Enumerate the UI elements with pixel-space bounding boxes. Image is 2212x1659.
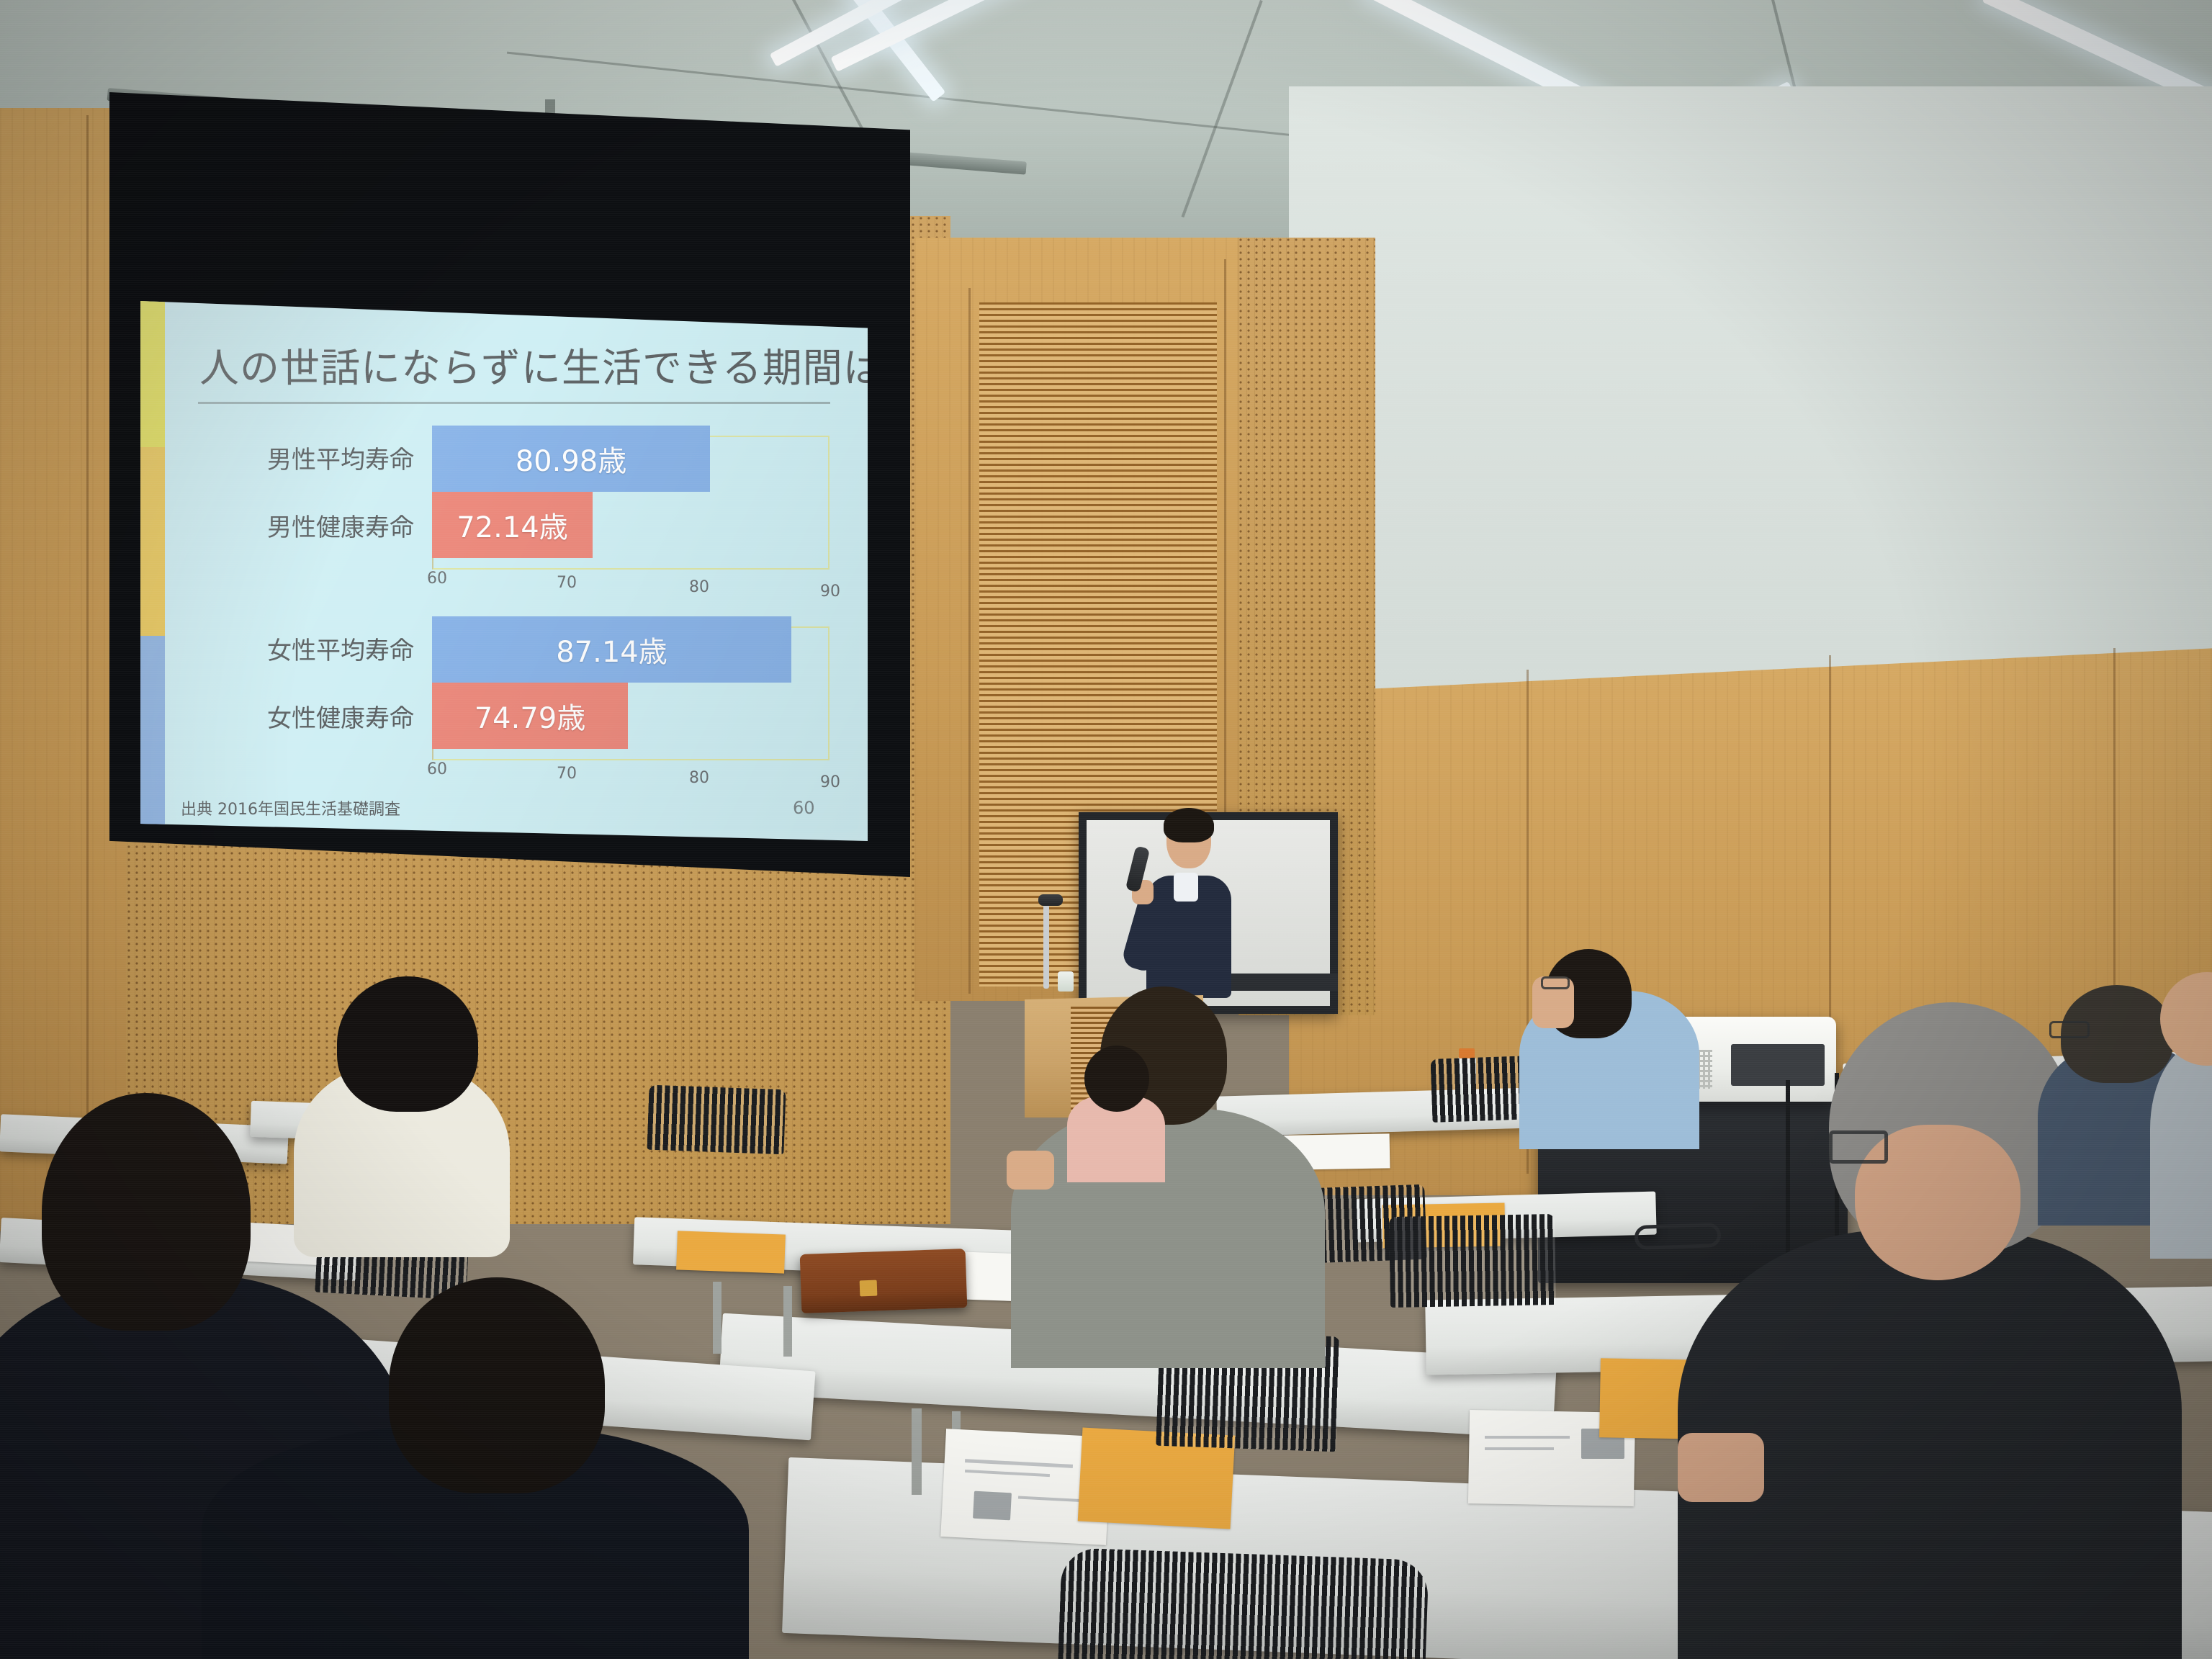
category-label-female-healthy: 女性健康寿命 (227, 698, 414, 734)
attendee-front-center-dark-suit-head (389, 1277, 605, 1493)
attendee-center-pink-top-head (1084, 1046, 1149, 1112)
wall-panel-seam (968, 288, 971, 994)
category-label-male-average: 男性平均寿命 (227, 440, 414, 475)
attendee-left-white-top-hair (337, 976, 478, 1112)
bar-male-healthy-life-expectancy: 72.14歳 (432, 492, 593, 558)
chair-back[interactable] (647, 1085, 786, 1155)
podium-gooseneck-mic (1038, 894, 1063, 906)
chart-male: 男性平均寿命 男性健康寿命 80.98歳 72.14歳 60 70 80 90 (140, 420, 868, 603)
bar-value-male-healthy: 72.14歳 (457, 504, 568, 546)
bar-male-average-life-expectancy: 80.98歳 (432, 426, 710, 492)
x-tick-female-70: 70 (557, 765, 577, 783)
handout-thumbnail (973, 1491, 1012, 1521)
slide-source-note: 出典 2016年国民生活基礎調査 (181, 796, 400, 819)
x-tick-male-90: 90 (820, 583, 840, 601)
x-tick-female-80: 80 (689, 769, 709, 787)
attendee-center-gray-jacket-body (1011, 1109, 1325, 1368)
bar-value-male-average: 80.98歳 (516, 438, 627, 480)
x-tick-male-70: 70 (557, 574, 577, 592)
glasses-icon (1829, 1130, 1888, 1164)
handout-text-line (1485, 1436, 1570, 1439)
briefcase-clasp (860, 1280, 878, 1297)
glasses-icon (1541, 976, 1570, 989)
presenter-hair (1164, 808, 1214, 842)
x-tick-female-60: 60 (427, 760, 447, 778)
attendee-right-hand (1678, 1433, 1764, 1502)
bar-value-female-healthy: 74.79歳 (475, 695, 586, 737)
chair-back[interactable] (1389, 1214, 1556, 1308)
upper-wall (1289, 86, 2212, 706)
presenter-shirt-collar (1174, 873, 1198, 902)
desk-leg (912, 1408, 922, 1495)
x-tick-female-90: 90 (820, 773, 840, 791)
podium-mic-stand (1043, 904, 1049, 989)
x-tick-male-80: 80 (689, 578, 709, 596)
whiteboard-marker-tray (1228, 974, 1338, 991)
orange-insert-sheet[interactable] (676, 1231, 786, 1273)
attendee-front-left-dark-suit-head (42, 1093, 251, 1331)
title-underline (198, 402, 830, 404)
briefcase[interactable] (800, 1249, 968, 1313)
desk-leg (713, 1282, 721, 1354)
glasses-icon (2049, 1021, 2090, 1038)
desk-leg (783, 1286, 792, 1357)
attendee-center-gray-jacket-hand (1007, 1151, 1054, 1190)
chair-handle (1634, 1223, 1721, 1250)
wall-panel-seam (86, 115, 89, 1224)
x-tick-male-60: 60 (427, 570, 447, 588)
category-label-female-average: 女性平均寿命 (227, 631, 414, 666)
water-cup (1058, 971, 1074, 992)
chart-female: 女性平均寿命 女性健康寿命 87.14歳 74.79歳 60 70 80 90 (140, 611, 868, 794)
slide-page-number: 60 (793, 798, 815, 818)
bar-female-average-life-expectancy: 87.14歳 (432, 616, 791, 683)
wood-column (0, 108, 126, 1231)
chair-back[interactable] (1055, 1547, 1429, 1659)
bar-female-healthy-life-expectancy: 74.79歳 (432, 683, 628, 749)
category-label-male-healthy: 男性健康寿命 (227, 508, 414, 543)
projected-slide: 人の世話にならずに生活できる期間は？ 男性平均寿命 男性健康寿命 80.98歳 … (140, 301, 868, 841)
seminar-room-photo: 人の世話にならずに生活できる期間は？ 男性平均寿命 男性健康寿命 80.98歳 … (0, 0, 2212, 1659)
bottle-cap (1459, 1048, 1475, 1058)
handout-text-line (1485, 1447, 1554, 1450)
slide-title: 人の世話にならずに生活できる期間は？ (199, 336, 868, 393)
bar-value-female-average: 87.14歳 (556, 629, 667, 670)
